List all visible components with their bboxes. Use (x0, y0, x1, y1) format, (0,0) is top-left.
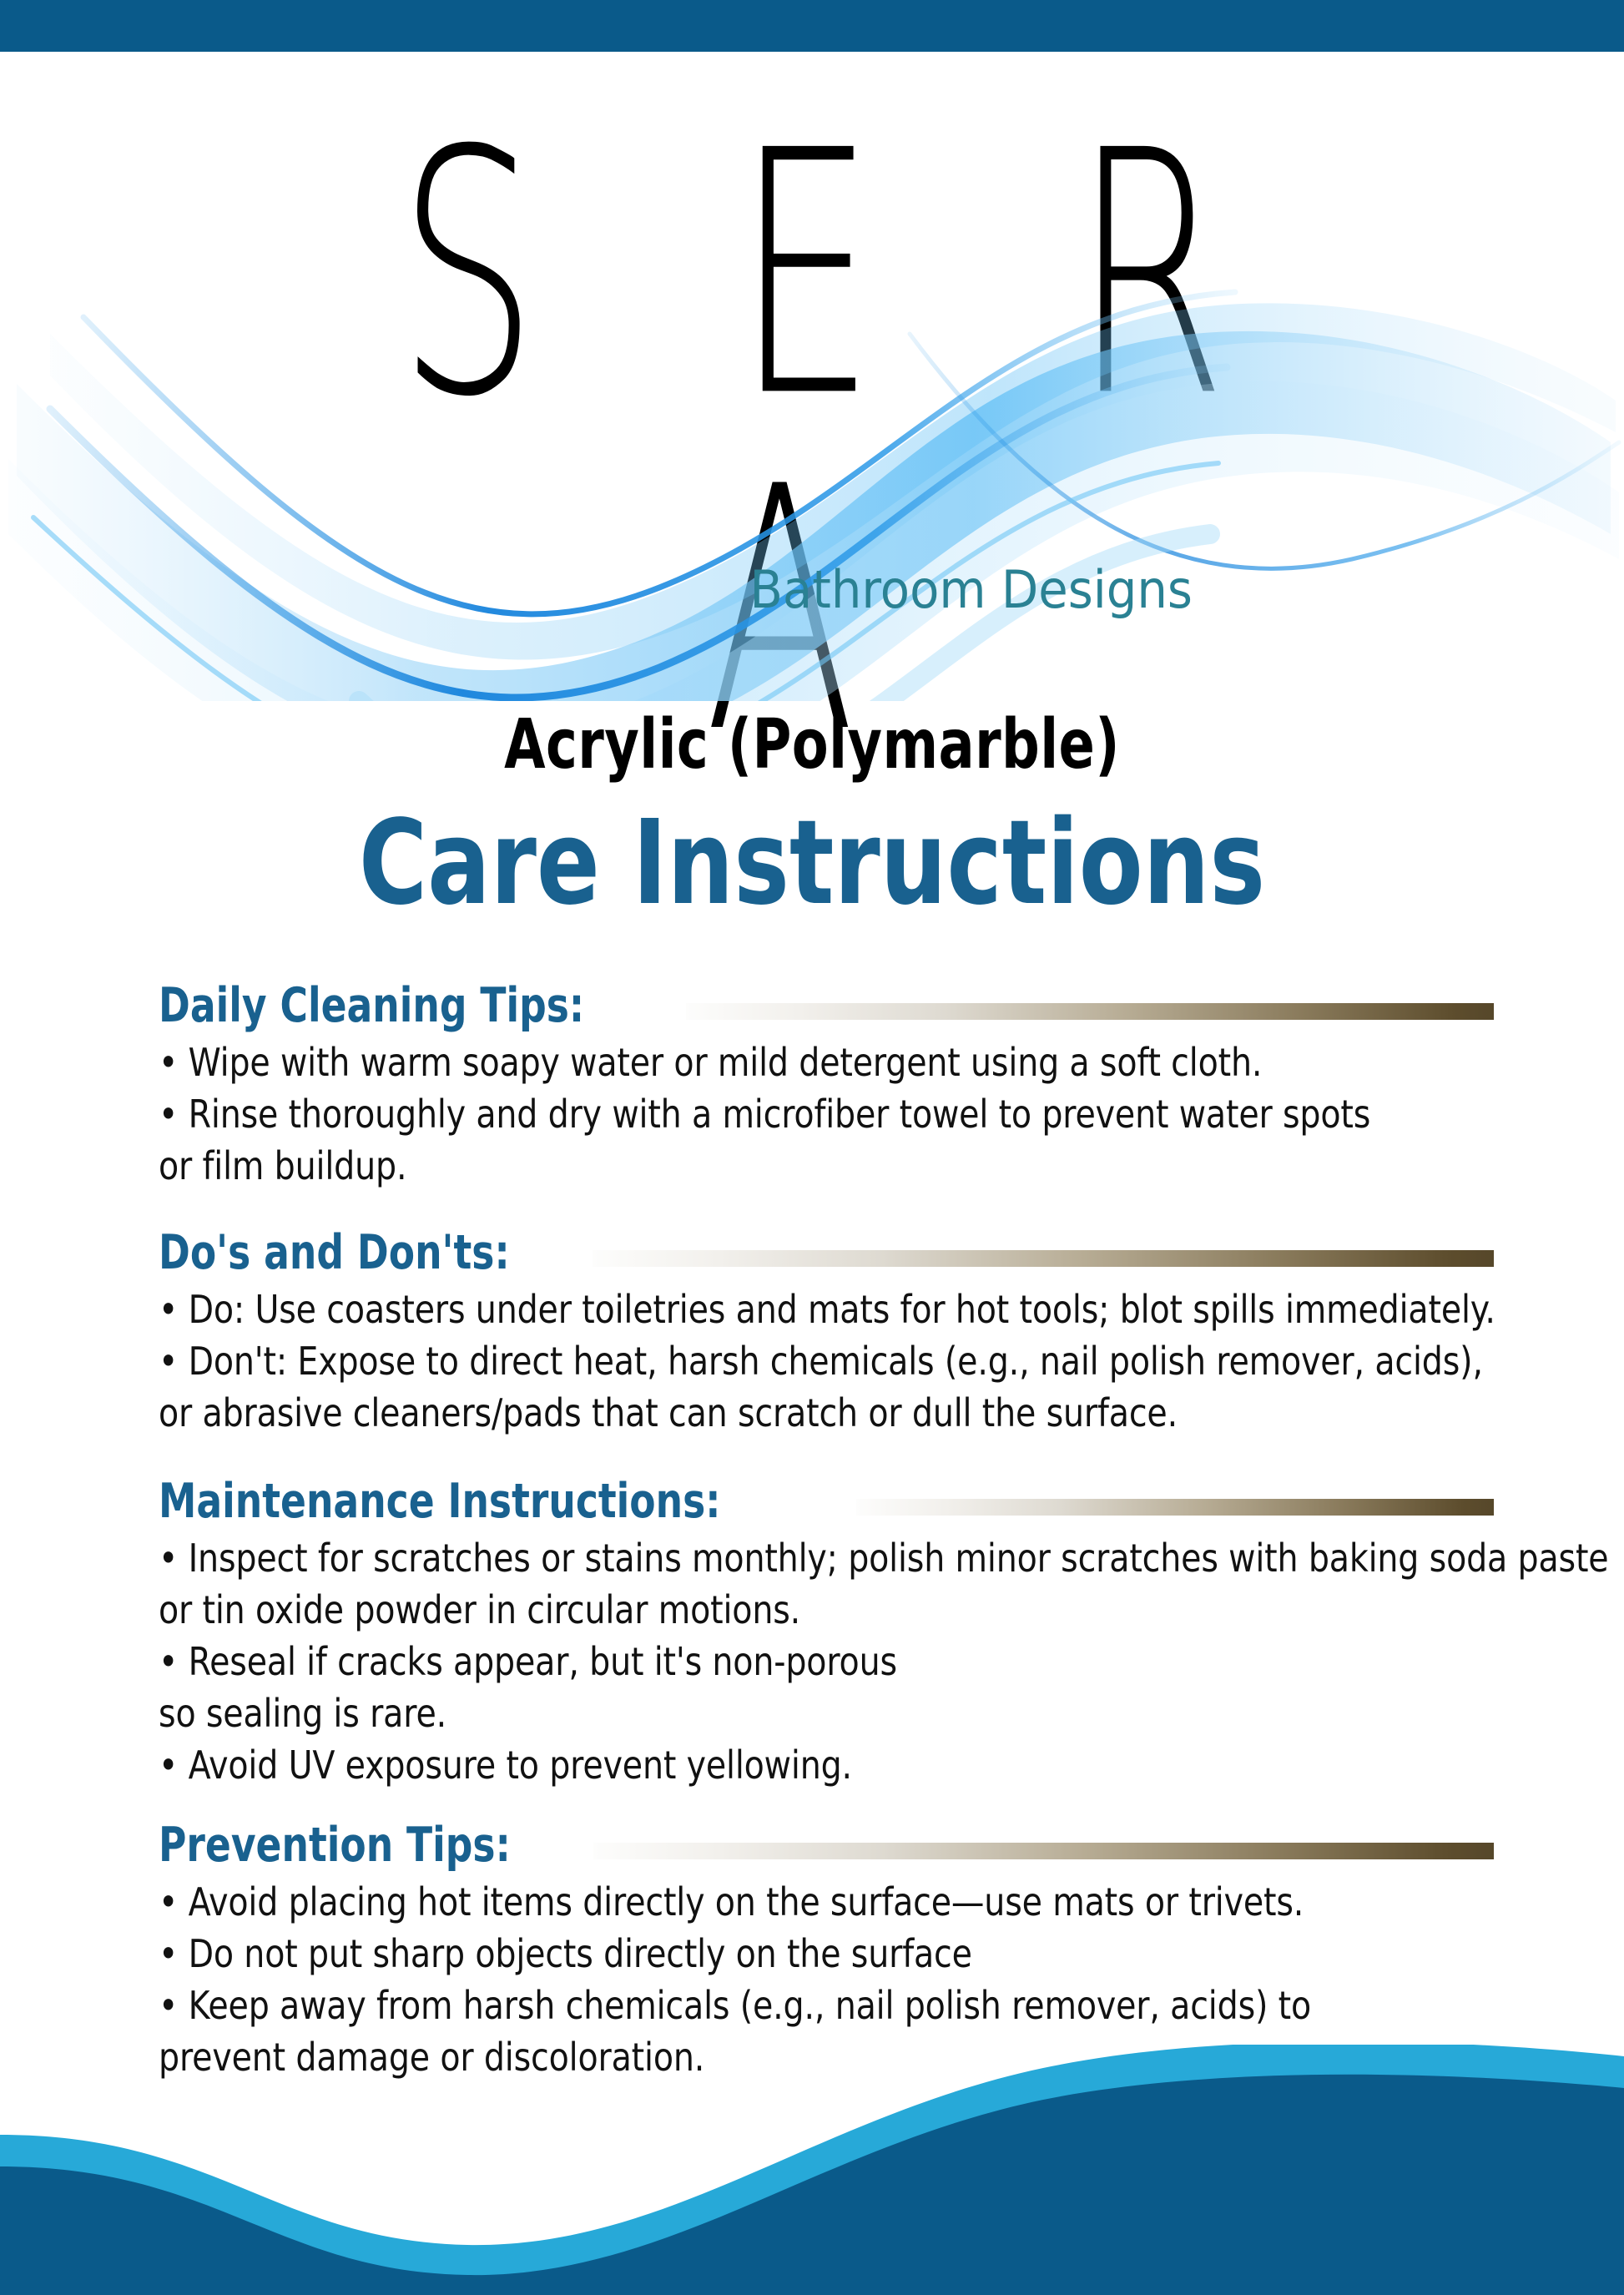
section-divider-rule (856, 1499, 1494, 1516)
product-subtitle: Acrylic (Polymarble) (179, 711, 1445, 779)
bullet-line: • Keep away from harsh chemicals (e.g., … (159, 1980, 1307, 2031)
section-divider-rule (686, 1003, 1494, 1020)
section-divider-rule (593, 1843, 1494, 1859)
section-header-row: Prevention Tips: (159, 1808, 1494, 1869)
bullet-line: so sealing is rare. (159, 1687, 1307, 1739)
bullet-line: • Do: Use coasters under toiletries and … (159, 1284, 1307, 1335)
section-header-row: Daily Cleaning Tips: (159, 968, 1494, 1030)
section-spacer (159, 1192, 1494, 1215)
section-header-row: Do's and Don'ts: (159, 1215, 1494, 1277)
footer-wave-graphic (0, 2045, 1624, 2295)
bullet-line: or film buildup. (159, 1140, 1307, 1192)
wave-ribbon-graphic (0, 284, 1624, 701)
bullet-line: • Reseal if cracks appear, but it's non-… (159, 1636, 1307, 1687)
section-header-row: Maintenance Instructions: (159, 1464, 1494, 1526)
section-dos-and-donts: Do's and Don'ts: • Do: Use coasters unde… (159, 1215, 1494, 1439)
care-instructions-poster: S E R A (0, 0, 1624, 2295)
section-prevention-tips: Prevention Tips: • Avoid placing hot ite… (159, 1808, 1494, 2083)
bullet-line: • Inspect for scratches or stains monthl… (159, 1532, 1307, 1584)
bullet-line: • Avoid UV exposure to prevent yellowing… (159, 1739, 1307, 1791)
section-heading: Do's and Don'ts: (159, 1229, 510, 1277)
section-heading: Maintenance Instructions: (159, 1478, 720, 1526)
page-title: Care Instructions (163, 805, 1462, 922)
section-daily-cleaning-tips: Daily Cleaning Tips: • Wipe with warm so… (159, 968, 1494, 1192)
bullet-line: • Wipe with warm soapy water or mild det… (159, 1037, 1307, 1088)
section-maintenance-instructions: Maintenance Instructions: • Inspect for … (159, 1464, 1494, 1791)
section-heading: Prevention Tips: (159, 1822, 511, 1869)
instructions-content: Daily Cleaning Tips: • Wipe with warm so… (159, 968, 1494, 2083)
footer-wave-dark (0, 2075, 1624, 2295)
section-body: • Inspect for scratches or stains monthl… (159, 1532, 1494, 1791)
section-spacer (159, 1791, 1494, 1808)
brand-tagline: Bathroom Designs (57, 559, 1567, 620)
section-body: • Wipe with warm soapy water or mild det… (159, 1037, 1494, 1192)
bullet-line: • Rinse thoroughly and dry with a microf… (159, 1088, 1307, 1140)
section-spacer (159, 1439, 1494, 1464)
bullet-line: or abrasive cleaners/pads that can scrat… (159, 1387, 1307, 1439)
bullet-line: • Avoid placing hot items directly on th… (159, 1876, 1307, 1928)
bullet-line: or tin oxide powder in circular motions. (159, 1584, 1307, 1636)
section-heading: Daily Cleaning Tips: (159, 982, 584, 1030)
bullet-line: • Do not put sharp objects directly on t… (159, 1928, 1307, 1980)
brand-logo-block: S E R A (0, 92, 1624, 693)
section-body: • Do: Use coasters under toiletries and … (159, 1284, 1494, 1439)
top-accent-bar (0, 0, 1624, 52)
bullet-line: • Don't: Expose to direct heat, harsh ch… (159, 1335, 1307, 1387)
section-divider-rule (593, 1250, 1494, 1267)
